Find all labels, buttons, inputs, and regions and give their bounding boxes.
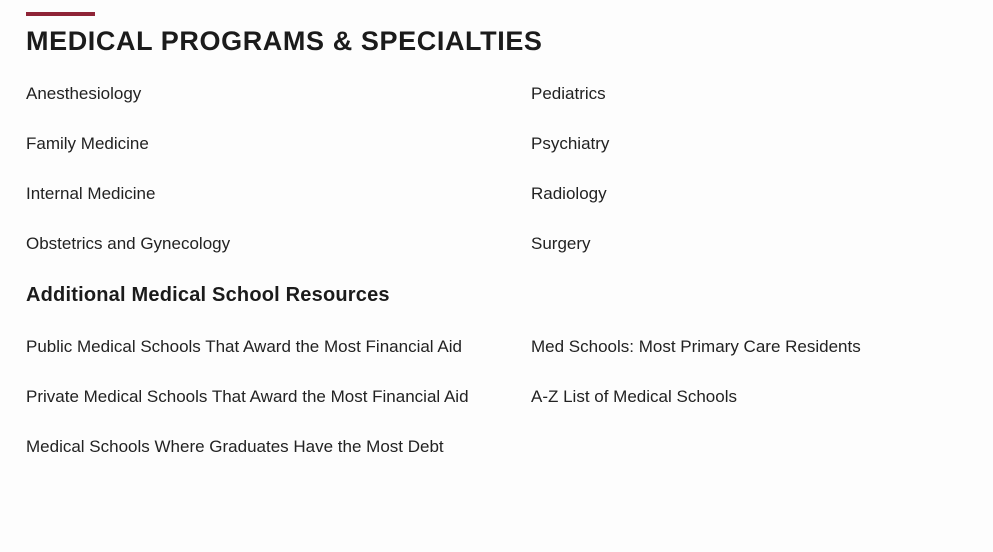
resource-link-public-med-schools-financial-aid[interactable]: Public Medical Schools That Award the Mo…	[26, 332, 496, 362]
page-title: MEDICAL PROGRAMS & SPECIALTIES	[26, 16, 543, 57]
specialties-column-left: Anesthesiology Family Medicine Internal …	[26, 82, 506, 282]
resources-column-right: Med Schools: Most Primary Care Residents…	[531, 332, 961, 432]
resource-link-med-schools-most-debt[interactable]: Medical Schools Where Graduates Have the…	[26, 432, 496, 462]
specialty-link-anesthesiology[interactable]: Anesthesiology	[26, 82, 506, 132]
specialty-link-psychiatry[interactable]: Psychiatry	[531, 132, 971, 182]
specialty-link-internal-medicine[interactable]: Internal Medicine	[26, 182, 506, 232]
specialty-link-surgery[interactable]: Surgery	[531, 232, 971, 282]
specialty-link-obstetrics-and-gynecology[interactable]: Obstetrics and Gynecology	[26, 232, 506, 282]
specialty-link-family-medicine[interactable]: Family Medicine	[26, 132, 506, 182]
page-header: MEDICAL PROGRAMS & SPECIALTIES	[26, 12, 543, 57]
resource-link-private-med-schools-financial-aid[interactable]: Private Medical Schools That Award the M…	[26, 382, 496, 412]
resource-link-most-primary-care-residents[interactable]: Med Schools: Most Primary Care Residents	[531, 332, 961, 362]
specialties-column-right: Pediatrics Psychiatry Radiology Surgery	[531, 82, 971, 282]
resources-column-left: Public Medical Schools That Award the Mo…	[26, 332, 496, 482]
resource-link-a-z-list-of-medical-schools[interactable]: A-Z List of Medical Schools	[531, 382, 961, 412]
specialties-list: Anesthesiology Family Medicine Internal …	[0, 82, 993, 258]
specialty-link-pediatrics[interactable]: Pediatrics	[531, 82, 971, 132]
specialty-link-radiology[interactable]: Radiology	[531, 182, 971, 232]
additional-resources-heading: Additional Medical School Resources	[26, 282, 390, 308]
medical-programs-page: MEDICAL PROGRAMS & SPECIALTIES Anesthesi…	[0, 0, 993, 552]
